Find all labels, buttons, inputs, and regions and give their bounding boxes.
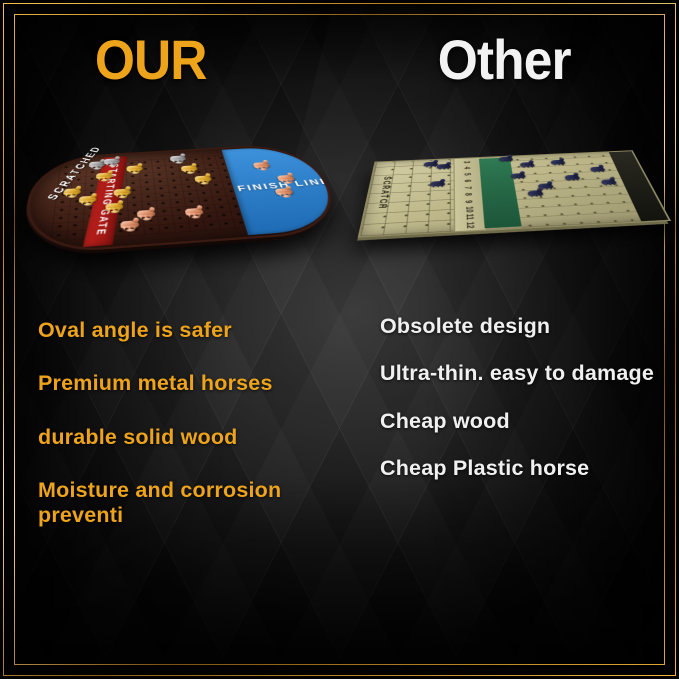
horse-piece-plastic [430,181,445,189]
feature-list-ours: Oval angle is saferPremium metal horsesd… [38,318,368,529]
feature-ours-item: Premium metal horses [38,371,368,396]
board-number: 12 [465,222,476,229]
header-ours: OUR [95,24,207,96]
horse-piece-plastic [550,160,566,167]
horse-piece-plastic [437,164,451,171]
header-row: OUR Other [0,24,679,96]
board-number: 5 [463,173,473,176]
horse-piece-gold [181,165,198,174]
header-theirs: Other [438,24,571,96]
horse-piece-plastic [590,167,606,174]
horse-piece-plastic [520,162,535,169]
feature-theirs-item: Cheap Plastic horse [380,456,668,481]
product-image-theirs: SCRATCH 3456789101112 [362,104,662,282]
board-number: 10 [464,206,475,213]
feature-list-theirs: Obsolete designUltra-thin. easy to damag… [380,314,668,481]
feature-ours-item: Oval angle is safer [38,318,368,343]
flat-board: SCRATCH 3456789101112 [347,148,679,254]
horse-piece-plastic [499,156,514,163]
oval-board: FINISH LINE STARTING GATE SCRATCHED [5,140,361,268]
horse-piece-gold [96,172,113,181]
horse-piece-gold [194,175,212,184]
horse-piece-gold [126,165,143,174]
feature-theirs-item: Obsolete design [380,314,668,339]
horse-piece-silver [170,155,187,163]
comparison-infographic: OUR Other FINISH LINE STARTING GATE SCRA… [0,0,679,679]
horse-piece-copper [277,175,297,184]
board-number: 3 [463,161,472,164]
horse-piece-silver [104,158,120,166]
board-number: 4 [463,167,472,170]
horse-piece-plastic [564,175,580,182]
product-image-ours: FINISH LINE STARTING GATE SCRATCHED [22,100,338,292]
feature-ours-item: Moisture and corrosion preventi [38,478,368,529]
board-number: 9 [464,200,474,203]
horse-piece-plastic [511,173,526,180]
horse-piece-copper [253,162,272,170]
board-number: 6 [463,179,473,182]
feature-ours-item: durable solid wood [38,425,368,450]
feature-theirs-item: Cheap wood [380,409,668,434]
horse-piece-silver [89,161,105,169]
board-number: 7 [464,186,474,189]
board-number: 8 [464,193,474,196]
board-number: 11 [465,214,476,221]
horse-piece-plastic [601,179,618,187]
feature-theirs-item: Ultra-thin. easy to damage [380,361,668,386]
